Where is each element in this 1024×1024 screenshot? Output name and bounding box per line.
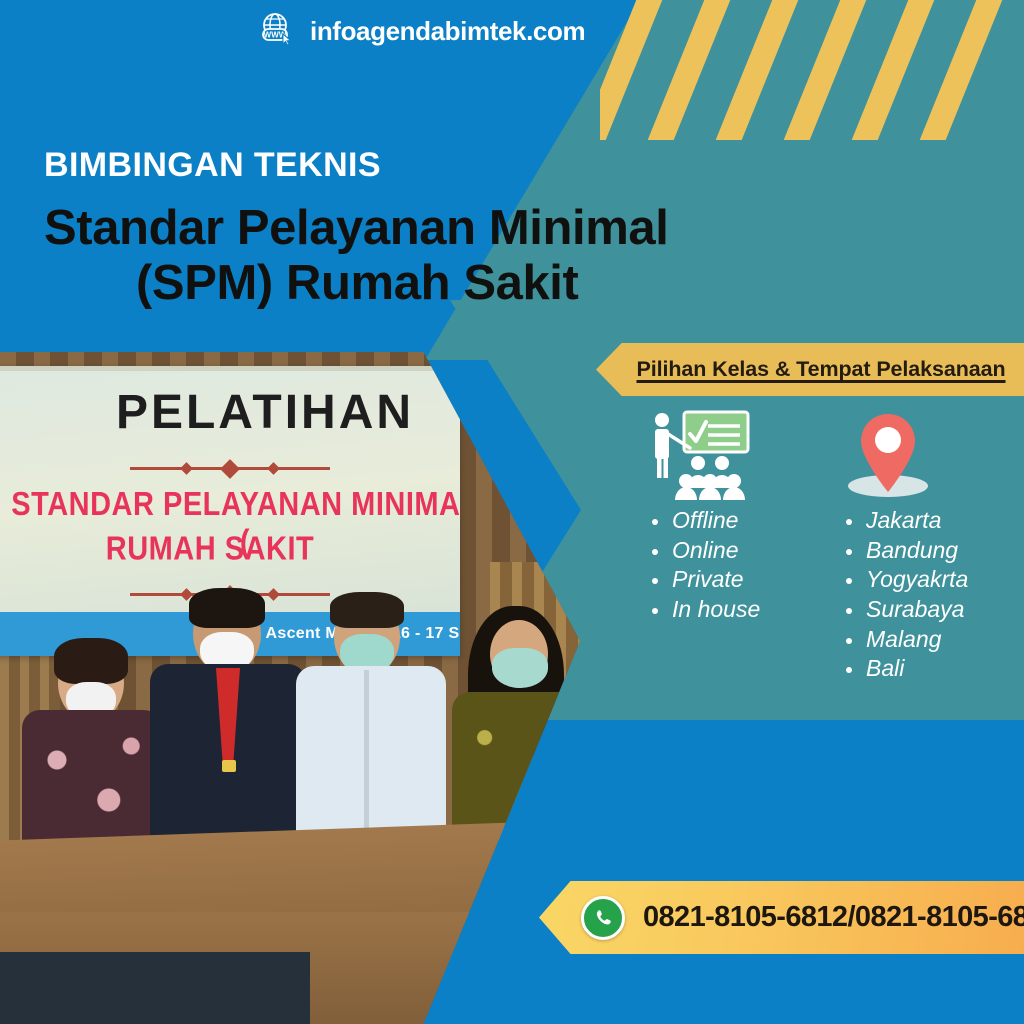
photo-table-shadow bbox=[0, 952, 310, 1024]
training-classroom-icon bbox=[646, 404, 760, 500]
contact-banner[interactable]: 0821-8105-6812/0821-8105-6813 bbox=[539, 881, 1024, 954]
website-bar: WWW infoagendabimtek.com bbox=[258, 10, 585, 53]
photo-banner-title: PELATIHAN bbox=[30, 385, 460, 440]
list-item: Surabaya bbox=[840, 595, 968, 625]
decorative-diagonal-stripes bbox=[600, 0, 1024, 140]
map-pin-icon bbox=[840, 404, 968, 500]
info-panel-heading: Pilihan Kelas & Tempat Pelaksanaan bbox=[596, 343, 1024, 396]
headline-kicker: BIMBINGAN TEKNIS bbox=[44, 146, 669, 185]
info-panel-heading-text: Pilihan Kelas & Tempat Pelaksanaan bbox=[636, 357, 1005, 382]
whatsapp-icon[interactable] bbox=[581, 896, 625, 940]
list-item: Jakarta bbox=[840, 506, 968, 536]
class-options-column: Offline Online Private In house bbox=[646, 404, 760, 625]
headline-title-line2: (SPM) Rumah Sakit bbox=[44, 256, 669, 311]
class-options-list: Offline Online Private In house bbox=[646, 506, 760, 625]
list-item: Private bbox=[646, 565, 760, 595]
headline-title: Standar Pelayanan Minimal (SPM) Rumah Sa… bbox=[44, 201, 669, 311]
photo-banner-line2: RUMAH SAKIT bbox=[0, 531, 445, 569]
globe-www-icon: WWW bbox=[258, 10, 296, 53]
headline-title-line1: Standar Pelayanan Minimal bbox=[44, 201, 669, 255]
headline-block: BIMBINGAN TEKNIS Standar Pelayanan Minim… bbox=[44, 146, 669, 311]
list-item: Yogyakrta bbox=[840, 565, 968, 595]
list-item: In house bbox=[646, 595, 760, 625]
location-options-column: Jakarta Bandung Yogyakrta Surabaya Malan… bbox=[840, 404, 968, 684]
website-url: infoagendabimtek.com bbox=[310, 16, 585, 47]
contact-phone-number: 0821-8105-6812/0821-8105-6813 bbox=[643, 901, 1024, 934]
list-item: Offline bbox=[646, 506, 760, 536]
list-item: Online bbox=[646, 536, 760, 566]
location-options-list: Jakarta Bandung Yogyakrta Surabaya Malan… bbox=[840, 506, 968, 684]
list-item: Bandung bbox=[840, 536, 968, 566]
list-item: Bali bbox=[840, 654, 968, 684]
list-item: Malang bbox=[840, 625, 968, 655]
